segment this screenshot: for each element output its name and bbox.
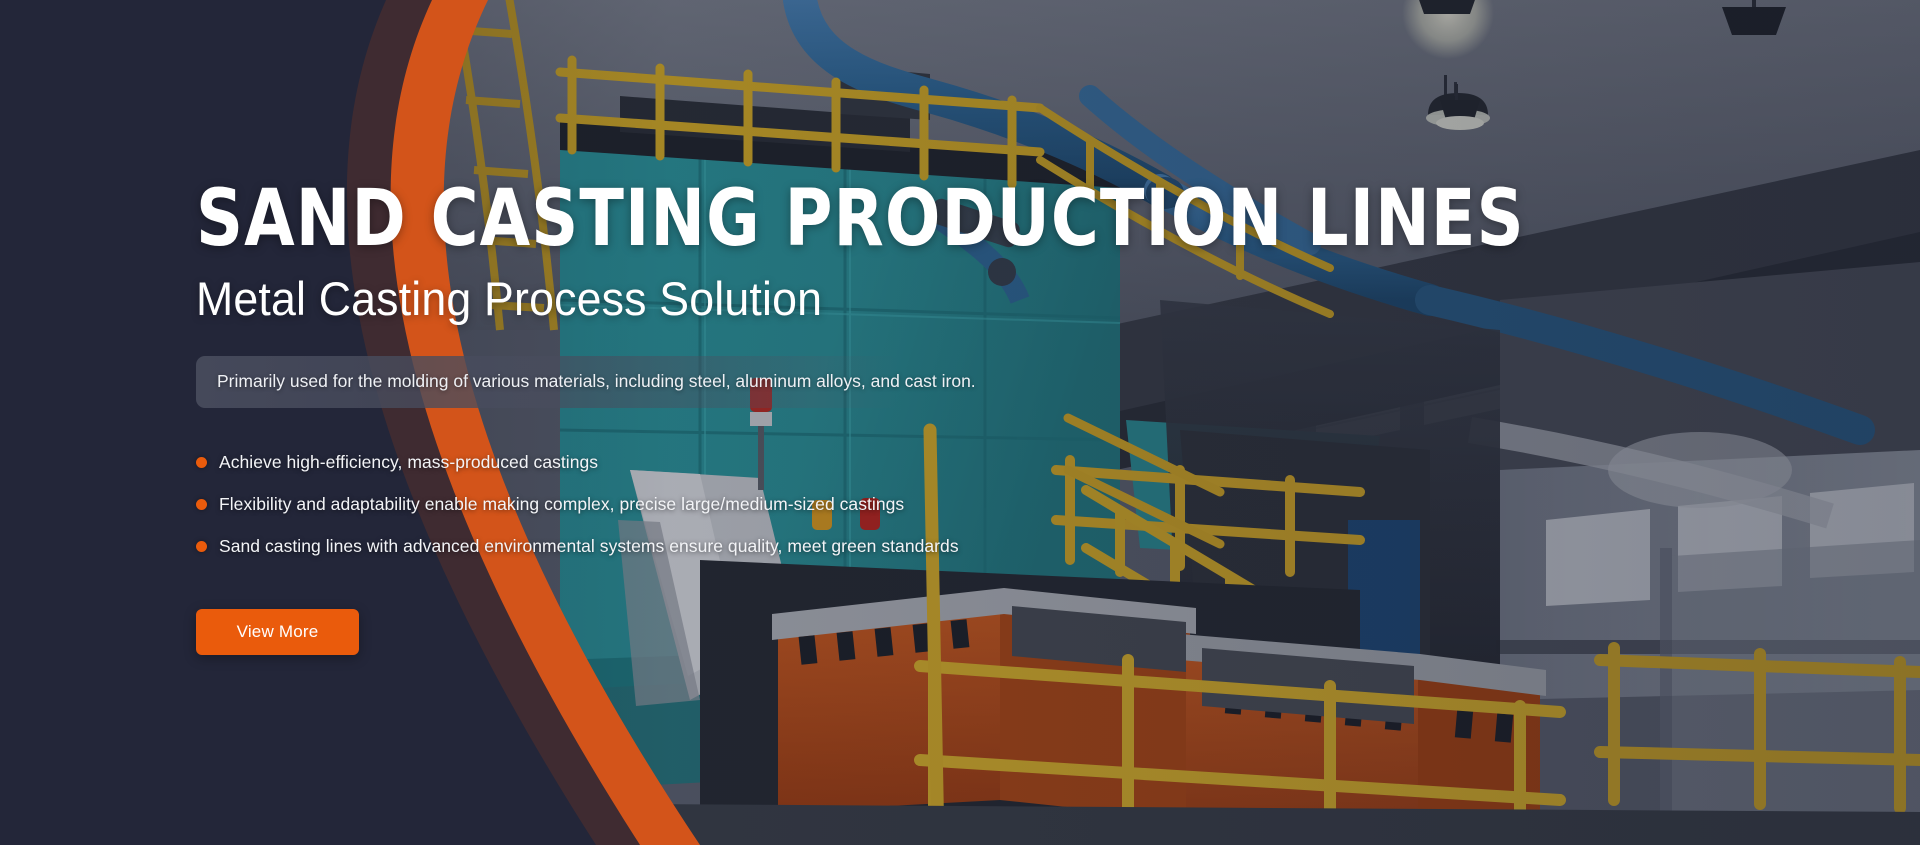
description-text: Primarily used for the molding of variou… <box>196 356 898 408</box>
view-more-button[interactable]: View More <box>196 609 359 655</box>
page-title: SAND CASTING PRODUCTION LINES <box>196 182 944 257</box>
bullet-dot-icon <box>196 457 207 468</box>
bullet-dot-icon <box>196 499 207 510</box>
bullet-label: Flexibility and adaptability enable maki… <box>219 494 904 515</box>
bullet-label: Achieve high-efficiency, mass-produced c… <box>219 452 598 473</box>
hero-content: SAND CASTING PRODUCTION LINES Metal Cast… <box>0 0 1000 845</box>
list-item: Sand casting lines with advanced environ… <box>196 536 1000 557</box>
description-wrapper: Primarily used for the molding of variou… <box>196 356 898 408</box>
bullet-label: Sand casting lines with advanced environ… <box>219 536 959 557</box>
list-item: Achieve high-efficiency, mass-produced c… <box>196 452 1000 473</box>
list-item: Flexibility and adaptability enable maki… <box>196 494 1000 515</box>
bullet-dot-icon <box>196 541 207 552</box>
feature-bullet-list: Achieve high-efficiency, mass-produced c… <box>196 452 1000 557</box>
page-subtitle: Metal Casting Process Solution <box>196 271 960 326</box>
hero-banner: SAND CASTING PRODUCTION LINES Metal Cast… <box>0 0 1920 845</box>
